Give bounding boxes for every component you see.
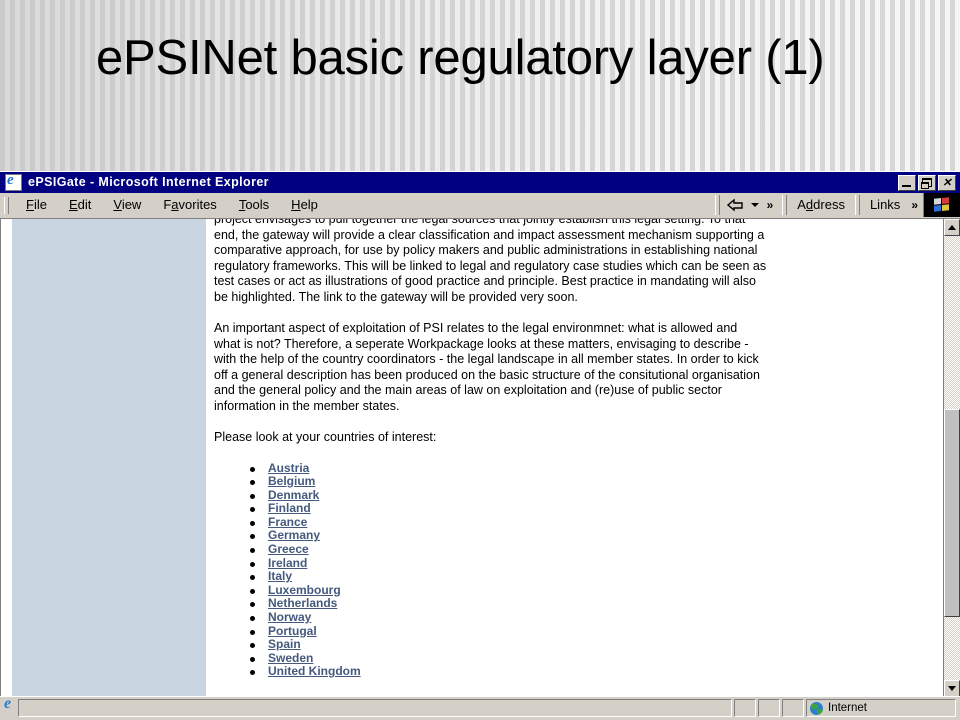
country-link-germany[interactable]: Germany	[268, 528, 320, 542]
country-link-denmark[interactable]: Denmark	[268, 488, 319, 502]
country-link-ireland[interactable]: Ireland	[268, 556, 307, 570]
country-link-belgium[interactable]: Belgium	[268, 474, 315, 488]
status-message	[18, 699, 732, 717]
toolbar-separator	[855, 195, 860, 215]
back-arrow-icon[interactable]	[724, 195, 748, 215]
internet-explorer-icon	[5, 174, 22, 191]
list-item: Ireland	[250, 557, 914, 571]
security-zone-label: Internet	[828, 702, 867, 714]
links-overflow-chevron[interactable]: »	[906, 198, 923, 212]
list-item: Italy	[250, 570, 914, 584]
country-link-austria[interactable]: Austria	[268, 461, 309, 475]
country-link-united-kingdom[interactable]: United Kingdom	[268, 664, 361, 678]
country-link-finland[interactable]: Finland	[268, 501, 311, 515]
chevron-down-icon[interactable]	[748, 195, 762, 215]
country-link-greece[interactable]: Greece	[268, 542, 309, 556]
window-controls: ✕	[898, 175, 958, 191]
globe-icon	[810, 702, 823, 715]
scroll-down-arrow-icon[interactable]	[944, 680, 960, 696]
list-item: Netherlands	[250, 597, 914, 611]
browser-window: ePSIGate - Microsoft Internet Explorer ✕…	[0, 171, 960, 720]
menu-item-edit[interactable]: Edit	[58, 195, 102, 215]
country-link-italy[interactable]: Italy	[268, 569, 292, 583]
list-item: Norway	[250, 611, 914, 625]
toolbar-overflow-chevron[interactable]: »	[762, 198, 779, 212]
country-link-luxembourg[interactable]: Luxembourg	[268, 583, 341, 597]
menu-item-file[interactable]: File	[15, 195, 58, 215]
list-item: Belgium	[250, 475, 914, 489]
toolbar-separator	[715, 195, 720, 215]
vertical-scrollbar[interactable]	[943, 219, 960, 696]
list-item: Denmark	[250, 489, 914, 503]
list-intro: Please look at your countries of interes…	[214, 430, 767, 446]
page-left-sidebar	[12, 219, 206, 696]
country-link-norway[interactable]: Norway	[268, 610, 311, 624]
scroll-up-arrow-icon[interactable]	[944, 219, 960, 236]
country-link-sweden[interactable]: Sweden	[268, 651, 313, 665]
toolbar-separator	[782, 195, 787, 215]
menu-item-tools[interactable]: Tools	[228, 195, 280, 215]
status-pane-3	[782, 699, 804, 717]
page-title: ePSINet basic regulatory layer (1)	[96, 24, 896, 92]
menu-item-help[interactable]: Help	[280, 195, 329, 215]
country-link-france[interactable]: France	[268, 515, 307, 529]
menu-item-view[interactable]: View	[102, 195, 152, 215]
scrollbar-thumb[interactable]	[944, 409, 960, 617]
list-item: Sweden	[250, 652, 914, 666]
restore-button[interactable]	[918, 175, 936, 191]
menu-bar: File Edit View Favorites Tools Help » Ad…	[0, 193, 960, 218]
title-bar: ePSIGate - Microsoft Internet Explorer ✕	[0, 172, 960, 193]
address-bar-label[interactable]: Address	[791, 197, 851, 213]
close-button[interactable]: ✕	[938, 175, 956, 191]
list-item: Finland	[250, 502, 914, 516]
status-security-zone[interactable]: Internet	[806, 699, 956, 717]
status-pane-1	[734, 699, 756, 717]
country-link-spain[interactable]: Spain	[268, 637, 301, 651]
list-item: Germany	[250, 529, 914, 543]
list-item: Luxembourg	[250, 584, 914, 598]
country-link-netherlands[interactable]: Netherlands	[268, 596, 337, 610]
country-link-list: Austria Belgium Denmark Finland France G…	[214, 462, 914, 680]
list-item: Austria	[250, 462, 914, 476]
menu-item-favorites[interactable]: Favorites	[152, 195, 227, 215]
links-bar-label[interactable]: Links	[864, 197, 906, 213]
status-bar: Internet	[0, 696, 960, 719]
windows-flag-logo-icon[interactable]	[923, 193, 960, 217]
paragraph-two: An important aspect of exploitation of P…	[214, 321, 767, 414]
minimize-button[interactable]	[898, 175, 916, 191]
status-pane-2	[758, 699, 780, 717]
status-internet-explorer-icon	[2, 699, 18, 715]
page-content: project envisages to pull together the l…	[214, 218, 914, 679]
list-item: Spain	[250, 638, 914, 652]
list-item: Greece	[250, 543, 914, 557]
list-item: United Kingdom	[250, 665, 914, 679]
window-title: ePSIGate - Microsoft Internet Explorer	[28, 175, 898, 190]
paragraph-clipped: project envisages to pull together the l…	[214, 218, 767, 305]
list-item: France	[250, 516, 914, 530]
country-link-portugal[interactable]: Portugal	[268, 624, 317, 638]
toolbar-grip[interactable]	[4, 197, 9, 214]
list-item: Portugal	[250, 625, 914, 639]
page-viewport: project envisages to pull together the l…	[0, 218, 960, 696]
